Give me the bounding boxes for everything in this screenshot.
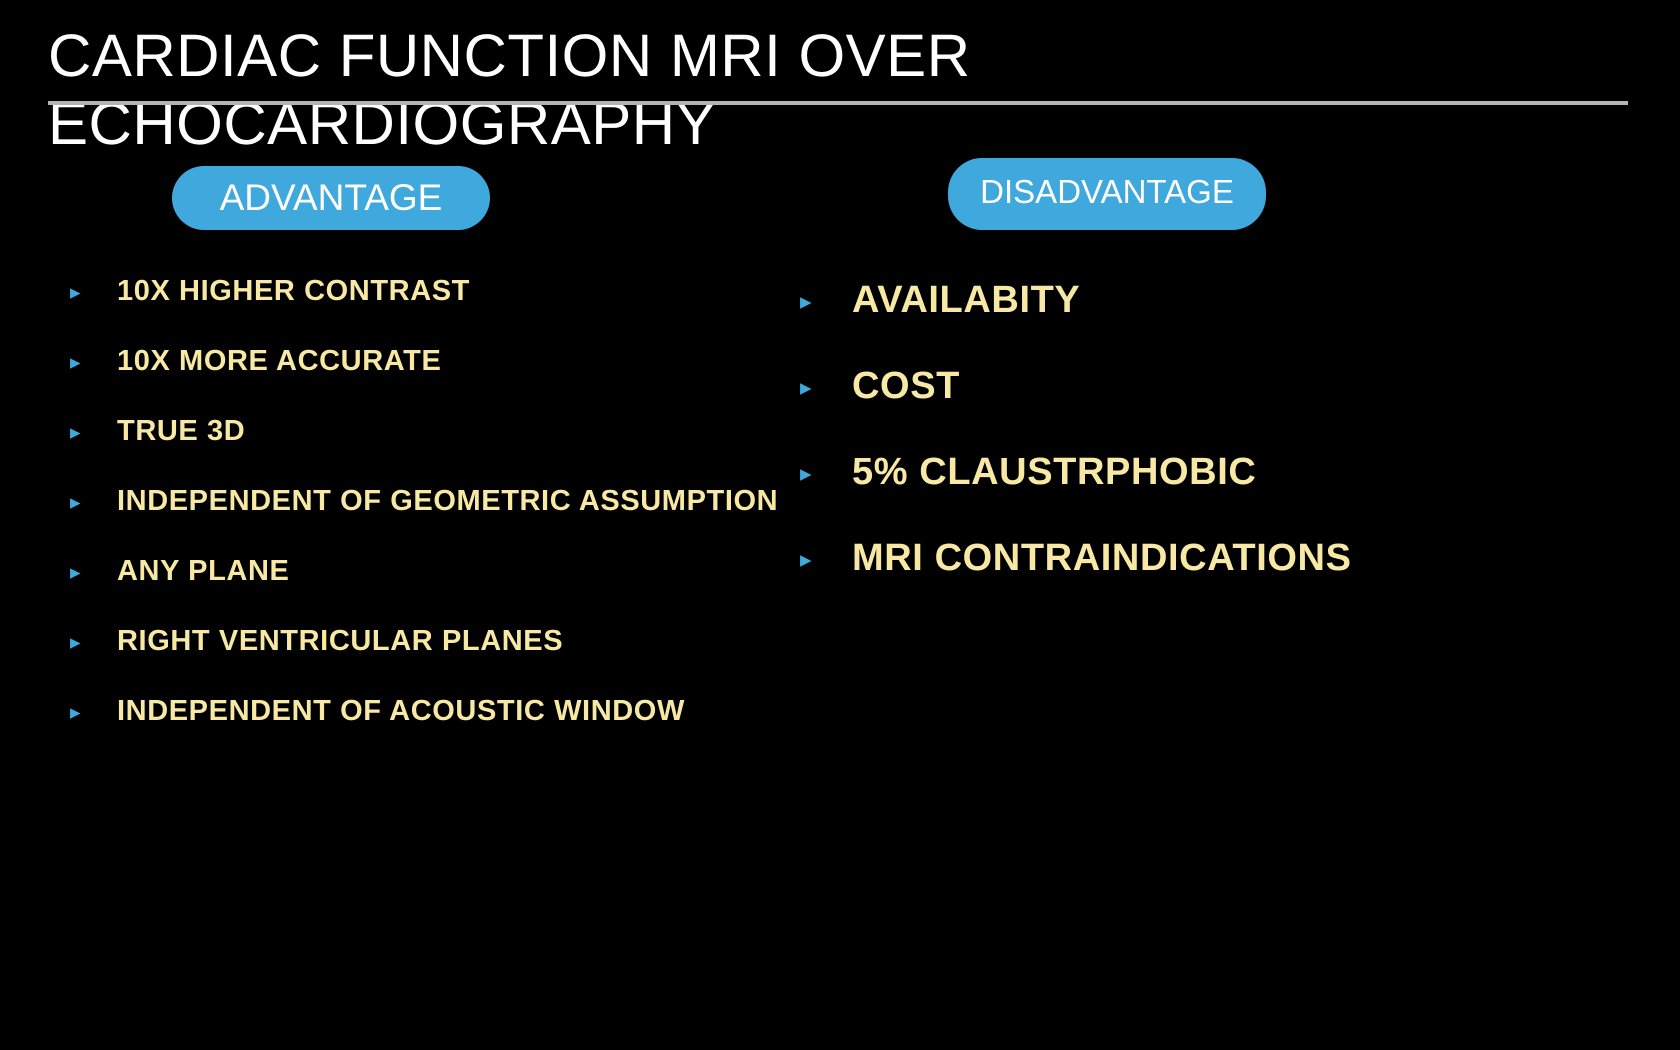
list-item: ▸ TRUE 3D bbox=[70, 412, 790, 451]
page-title: CARDIAC FUNCTION MRI OVER ECHOCARDIOGRAP… bbox=[48, 26, 1638, 154]
triangle-bullet-icon: ▸ bbox=[70, 482, 117, 513]
triangle-bullet-icon: ▸ bbox=[70, 622, 117, 653]
list-item: ▸ 10X HIGHER CONTRAST bbox=[70, 272, 790, 311]
triangle-bullet-icon: ▸ bbox=[70, 412, 117, 443]
disadvantage-list: ▸ AVAILABITY ▸ COST ▸ 5% CLAUSTRPHOBIC ▸… bbox=[800, 276, 1660, 620]
list-item-label: RIGHT VENTRICULAR PLANES bbox=[117, 622, 790, 661]
disadvantage-badge: DISADVANTAGE bbox=[948, 158, 1266, 230]
list-item-label: AVAILABITY bbox=[852, 276, 1660, 325]
triangle-bullet-icon: ▸ bbox=[70, 272, 117, 303]
list-item: ▸ INDEPENDENT OF ACOUSTIC WINDOW bbox=[70, 692, 790, 731]
title-underline-rule bbox=[48, 101, 1628, 105]
list-item: ▸ ANY PLANE bbox=[70, 552, 790, 591]
page-title-line-1: CARDIAC FUNCTION MRI OVER bbox=[48, 26, 1638, 94]
list-item-label: INDEPENDENT OF GEOMETRIC ASSUMPTION bbox=[117, 482, 790, 521]
list-item: ▸ MRI CONTRAINDICATIONS bbox=[800, 534, 1660, 583]
list-item: ▸ AVAILABITY bbox=[800, 276, 1660, 325]
triangle-bullet-icon: ▸ bbox=[800, 448, 852, 485]
list-item-label: MRI CONTRAINDICATIONS bbox=[852, 534, 1660, 583]
list-item-label: INDEPENDENT OF ACOUSTIC WINDOW bbox=[117, 692, 790, 731]
list-item: ▸ 10X MORE ACCURATE bbox=[70, 342, 790, 381]
triangle-bullet-icon: ▸ bbox=[800, 534, 852, 571]
list-item-label: 10X MORE ACCURATE bbox=[117, 342, 790, 381]
advantage-badge-label: ADVANTAGE bbox=[220, 177, 443, 219]
advantage-badge: ADVANTAGE bbox=[172, 166, 490, 230]
slide-canvas: CARDIAC FUNCTION MRI OVER ECHOCARDIOGRAP… bbox=[0, 0, 1680, 1050]
list-item: ▸ INDEPENDENT OF GEOMETRIC ASSUMPTION bbox=[70, 482, 790, 521]
disadvantage-badge-label: DISADVANTAGE bbox=[957, 174, 1257, 210]
list-item: ▸ COST bbox=[800, 362, 1660, 411]
list-item-label: 5% CLAUSTRPHOBIC bbox=[852, 448, 1660, 497]
triangle-bullet-icon: ▸ bbox=[800, 276, 852, 313]
list-item-label: 10X HIGHER CONTRAST bbox=[117, 272, 790, 311]
list-item-label: COST bbox=[852, 362, 1660, 411]
triangle-bullet-icon: ▸ bbox=[70, 692, 117, 723]
triangle-bullet-icon: ▸ bbox=[70, 552, 117, 583]
list-item-label: ANY PLANE bbox=[117, 552, 790, 591]
list-item: ▸ RIGHT VENTRICULAR PLANES bbox=[70, 622, 790, 661]
list-item-label: TRUE 3D bbox=[117, 412, 790, 451]
advantage-list: ▸ 10X HIGHER CONTRAST ▸ 10X MORE ACCURAT… bbox=[70, 272, 790, 762]
list-item: ▸ 5% CLAUSTRPHOBIC bbox=[800, 448, 1660, 497]
triangle-bullet-icon: ▸ bbox=[70, 342, 117, 373]
triangle-bullet-icon: ▸ bbox=[800, 362, 852, 399]
